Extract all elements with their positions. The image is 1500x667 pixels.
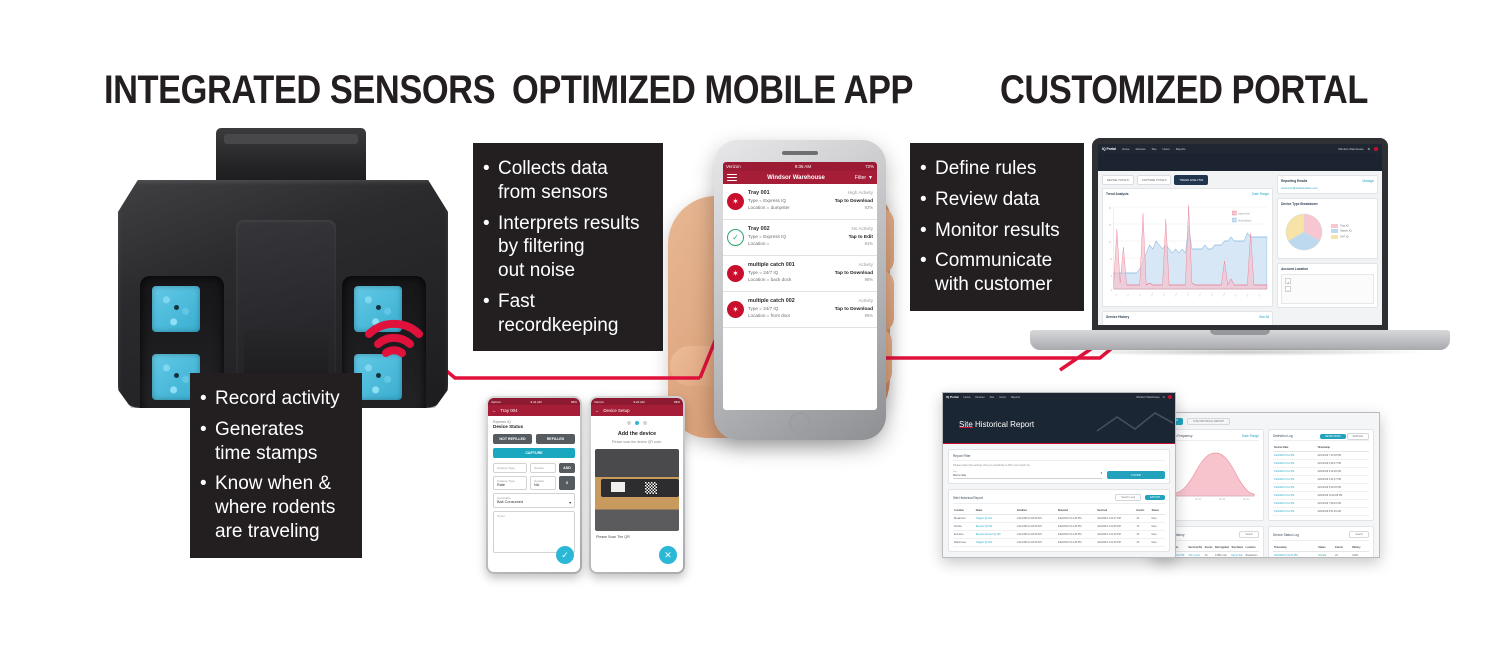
callout-mobile-list: •Collects data from sensors •Interprets … [483, 157, 649, 337]
svg-text:0: 0 [1111, 289, 1112, 293]
svg-text:5: 5 [1111, 275, 1112, 279]
battery-level: 98% [865, 277, 873, 282]
callout-sensors-list: •Record activity •Generates time stamps … [200, 387, 348, 544]
report-window-site-historical: IQ Portal Home Devices Site Users Report… [942, 392, 1176, 558]
filter-button[interactable]: Filter▼ [855, 175, 873, 181]
section-title: Device Status [493, 424, 575, 429]
cell[interactable]: 4/22/2019 3:14 PM [1273, 508, 1316, 516]
service-history-table: Service Date Serviced By Events Bait App… [1163, 544, 1259, 558]
field-value: Bait Consumed [497, 500, 523, 505]
clock-label: 9:22 AM [633, 400, 644, 404]
card-title: Account Location [1281, 267, 1308, 271]
portal-tabs: DEVICE TOTALS CAPTURE TOTALS TREND ANALY… [1102, 175, 1273, 185]
report-hero: Site Historical Report [943, 401, 1175, 443]
table-row: 4/22/2019 3:14 PM4/20/2019 3:41:47 PM [1273, 476, 1369, 484]
panel-title: Report Filter [953, 454, 971, 458]
email-address[interactable]: customer@windsorwhse.com [1281, 186, 1374, 190]
chevron-down-icon: ▾ [1101, 471, 1102, 477]
cell: 1/11/1980 12:00:00 AM [1016, 531, 1057, 539]
column-header: Service Date [1273, 444, 1316, 452]
svg-text:4/13: 4/13 [1163, 293, 1166, 298]
cell[interactable]: Express Sensor IQ 103 [975, 531, 1016, 539]
cell: 4/21/2019 7:10:03 PM [1316, 452, 1369, 460]
not-refilled-button[interactable]: NOT REFILLED [493, 434, 532, 444]
cell[interactable]: Trapper IQ 104 [975, 539, 1016, 547]
heading-optimized-mobile-app: OPTIMIZED MOBILE APP [512, 68, 913, 113]
nav-item-reports[interactable]: Reports [1176, 147, 1186, 151]
legend-label: 24/7 IQ [1340, 235, 1349, 238]
column-header: Status [1151, 507, 1165, 515]
cell: New [1151, 531, 1165, 539]
svg-text:Jan 31: Jan 31 [1243, 499, 1250, 500]
cell: 32 [1135, 531, 1150, 539]
carrier-label: Verizon [594, 400, 604, 404]
row-action[interactable]: Tap to Download [835, 271, 873, 276]
service-history-card: Service HistorySee All [1102, 311, 1273, 325]
hamburger-menu-icon[interactable] [727, 172, 737, 183]
trend-analysis-chart: 252015 1050 4/1 4/4 4/7 4/10 4/13 [1106, 199, 1269, 303]
device-type: Type = 24/7 IQ [748, 306, 778, 311]
cell[interactable]: 4/22/2019 3:14 PM [1273, 492, 1316, 500]
cell: Warehouse [953, 539, 975, 547]
svg-text:15: 15 [1109, 241, 1111, 245]
table-row: 4/22/2019 3:14 PM4/20/2019 8:51:29 AM [1273, 508, 1369, 516]
setup-subheading: Please scan the device QR code. [591, 440, 683, 444]
device-type: Type = Express IQ [748, 198, 786, 203]
bullet-icon: • [483, 212, 498, 283]
search-input[interactable]: Search [1239, 531, 1259, 538]
report-topbar: IQ Portal Home Devices Site Users Report… [943, 393, 1175, 401]
cell: Kitchen [953, 523, 975, 531]
cell: 4/20/2019 3:41:47 PM [1316, 476, 1369, 484]
bullet-icon: • [483, 157, 498, 205]
list-item: •Fast recordkeeping [483, 290, 649, 338]
carrier-label: Verizon [726, 164, 741, 169]
bullet-text: Fast recordkeeping [498, 290, 618, 338]
device-type-breakdown-card: Device Type Breakdown Tray IQ Station IQ [1277, 198, 1378, 259]
field-value: NA [534, 483, 552, 487]
device-location: Location = front door [748, 313, 790, 318]
portal-logo: IQ Portal [1102, 147, 1116, 151]
gear-icon[interactable]: ⚙ [1367, 147, 1370, 151]
cell: 4/20/2019 10:04:08 PM [1316, 492, 1369, 500]
nav-item-site[interactable]: Site [1152, 147, 1157, 151]
search-input[interactable]: Search [1349, 531, 1369, 538]
cell: 4/21/2019 7:08:44 PM [1316, 500, 1369, 508]
home-button[interactable] [789, 412, 811, 434]
tab-capture-totals[interactable]: CAPTURE TOTALS [1137, 175, 1172, 185]
legend-label: Tray IQ [1340, 224, 1349, 227]
decorative-wave-icon [1095, 409, 1175, 437]
table-row: Entrance Express Sensor IQ 103 1/11/1980… [953, 531, 1165, 539]
tab-trend-analysis[interactable]: TREND ANALYSIS [1174, 175, 1208, 185]
status-bar: Verizon 9:41 AM 96% [488, 398, 580, 405]
check-icon[interactable]: ✓ [556, 546, 574, 564]
cell: New [1151, 539, 1165, 547]
cell[interactable]: 4/22/2019 3:14 PM [1273, 484, 1316, 492]
nav-item-users[interactable]: Users [1162, 147, 1169, 151]
list-item: •Interprets results by filtering out noi… [483, 212, 649, 283]
svg-text:4/19: 4/19 [1187, 293, 1190, 298]
cell[interactable]: 4/22/2019 3:14 PM [1273, 476, 1316, 484]
table-row: 4/22/2019 3:14 PM4/20/2019 9:16:29 PM [1273, 468, 1369, 476]
heading-customized-portal: CUSTOMIZED PORTAL [1000, 68, 1368, 113]
tab-device-totals[interactable]: DEVICE TOTALS [1102, 175, 1134, 185]
table-row: Warehouse Trapper IQ 104 1/11/1980 12:00… [953, 539, 1165, 547]
field-label: Notes [497, 514, 505, 518]
table-row[interactable]: ✶ Tray 001 Type = Express IQ Location = … [723, 184, 877, 220]
detection-log-table: Service DateTimestamp 4/22/2019 3:14 PM4… [1273, 444, 1369, 516]
cell: 4/20/2019 8:51:29 AM [1316, 508, 1369, 516]
bluetooth-icon: ✶ [727, 301, 744, 318]
bullet-icon: • [920, 219, 935, 243]
bullet-text: Record activity [215, 387, 340, 411]
bait-station-device [118, 128, 448, 408]
svg-text:25: 25 [1109, 207, 1111, 211]
panel-title: Site Historical Report [953, 496, 983, 500]
bullet-icon: • [483, 290, 498, 338]
avatar[interactable] [1168, 395, 1172, 399]
nav-item-home[interactable]: Home [1122, 147, 1129, 151]
filter-button[interactable]: FILTER [1107, 471, 1165, 479]
tab-detections[interactable]: DETECTIONS [1320, 434, 1345, 439]
svg-text:4/22: 4/22 [1199, 293, 1202, 298]
cell[interactable]: Tom Lyons [1187, 552, 1203, 559]
cell: 24 [1334, 552, 1351, 559]
add-button[interactable]: ADD [559, 463, 575, 473]
portal-topbar: IQ Portal Home Devices Site Users Report… [1098, 144, 1382, 153]
table-row: Kitchen Express IQ 102 1/11/1980 12:00:0… [953, 523, 1165, 531]
card-note-select[interactable]: Card Note Bait Consumed ▾ [493, 493, 575, 508]
phone-body: Verizon 9:36 AM 72% Windsor Warehouse Fi… [714, 140, 886, 440]
table-row[interactable]: ✶ multiple catch 001 Type = 24/7 IQ Loca… [723, 256, 877, 292]
laptop-notch [1210, 330, 1270, 335]
bullet-text: Interprets results by filtering out nois… [498, 212, 640, 283]
zoom-out-button[interactable]: − [1285, 286, 1291, 292]
battery-level: 95% [865, 313, 873, 318]
table-row[interactable]: ✓ Tray 002 Type = Express IQ Location = … [723, 220, 877, 256]
bullet-text: Define rules [935, 157, 1036, 181]
cell: Entrance [953, 531, 975, 539]
cell[interactable]: 4/22/2019 3:41:33 PM [1273, 552, 1317, 559]
gear-icon[interactable]: ⚙ [1163, 396, 1165, 399]
device-location: Location = [748, 241, 769, 246]
nav-item-devices[interactable]: Devices [975, 396, 984, 399]
battery-label: 99% [674, 400, 680, 404]
portal-logo: IQ Portal [946, 395, 959, 399]
gender-field[interactable]: Gender NA [530, 476, 556, 490]
field-label: Gender [534, 466, 544, 470]
report-window-dashboard: DASHBOARD SITE HISTORICAL REPORT Detecti… [1152, 412, 1380, 558]
device-location: Location = dumpster [748, 205, 790, 210]
avatar[interactable] [1374, 147, 1378, 151]
bullet-icon: • [200, 387, 215, 411]
cell: 4/22/2019 3:14:39 PM [1057, 523, 1096, 531]
device-name: Tray 002 [748, 226, 770, 232]
column-header: Installed [1016, 507, 1057, 515]
cell: 4/22/2019 3:14:39 PM [1057, 531, 1096, 539]
see-all-link[interactable]: See All [1259, 315, 1269, 319]
page-title: Windsor Warehouse [767, 175, 825, 181]
date-range-link[interactable]: Date Range [1242, 434, 1259, 438]
nav-item-site[interactable]: Site [990, 396, 994, 399]
wifi-signal-icon [361, 306, 427, 376]
location-map[interactable]: + − [1281, 274, 1374, 304]
svg-text:Incidents Found: Incidents Found [1238, 212, 1250, 216]
close-icon[interactable]: ✕ [659, 546, 677, 564]
mobile-phone: Verizon 9:36 AM 72% Windsor Warehouse Fi… [700, 140, 910, 470]
capture-type-field[interactable]: Capture Type [493, 463, 527, 473]
phone-status-bar: Verizon 9:36 AM 72% [723, 162, 877, 171]
battery-label: 72% [865, 164, 874, 169]
device-type-pie-chart [1281, 209, 1327, 255]
bullet-icon: • [200, 472, 215, 543]
title-underline [959, 427, 973, 428]
legend-label: Station IQ [1340, 230, 1352, 233]
cell: 20 [1135, 539, 1150, 547]
callout-mobile: •Collects data from sensors •Interprets … [473, 143, 663, 351]
cell[interactable]: 4/22/2019 3:14 PM [1273, 460, 1316, 468]
bullet-text: Collects data from sensors [498, 157, 608, 205]
table-row[interactable]: ✶ multiple catch 002 Type = 24/7 IQ Loca… [723, 292, 877, 328]
back-arrow-icon[interactable]: ← [595, 408, 599, 413]
svg-text:4/7: 4/7 [1139, 294, 1141, 298]
cell: 4/22/2019 4:41:05 PM [1096, 523, 1135, 531]
cell: 1/11/1980 12:00:00 AM [1016, 523, 1057, 531]
step-dot [643, 421, 647, 425]
infographic-stage: INTEGRATED SENSORS OPTIMIZED MOBILE APP … [0, 0, 1500, 667]
table-row: 4/22/2019 3:14 PM Tom Lyons 24 0.380 uni… [1163, 552, 1259, 559]
list-item: •Know when & where rodents are traveling [200, 472, 348, 543]
card-title: Trend Analysis [1106, 192, 1129, 196]
export-button[interactable]: EXPORT [1145, 495, 1165, 500]
scan-prompt: Please Scan The QR [596, 535, 630, 539]
cell: 4/22/2019 3:14:39 PM [1057, 539, 1096, 547]
cell: 4/22/2019 4:41:36 PM [1096, 539, 1135, 547]
cell[interactable]: 4/22/2019 3:14 PM [1273, 468, 1316, 476]
cell[interactable]: 4/22/2019 3:14 PM [1273, 500, 1316, 508]
cell[interactable]: Trapper IQ 101 [975, 515, 1016, 523]
mini-screen: Verizon 9:41 AM 96% ← Tray 004 Express I… [488, 398, 580, 572]
setup-heading: Add the device [591, 431, 683, 437]
page-title: Tray 004 [500, 408, 517, 413]
column-header: Serviced [1096, 507, 1135, 515]
activity-status: Activity [858, 298, 873, 303]
column-header: Detected [1057, 507, 1096, 515]
phone-speaker [782, 151, 818, 155]
card-title: Service History [1106, 315, 1129, 319]
laptop-device: IQ Portal Home Devices Site Users Report… [1030, 138, 1450, 378]
list-item: •Record activity [200, 387, 348, 411]
svg-text:10: 10 [1110, 258, 1112, 262]
trend-analysis-card: Trend AnalysisDate Range [1102, 188, 1273, 307]
portal-screen: IQ Portal Home Devices Site Users Report… [1098, 144, 1382, 325]
panel-title: Detection Log [1273, 434, 1293, 438]
device-label [611, 482, 625, 492]
bullet-icon: • [200, 418, 215, 466]
mini-phone-device-setup: Verizon 9:22 AM 99% ← Device Setup Add t… [589, 396, 685, 574]
column-header: Location [1245, 544, 1259, 552]
svg-text:5/4: 5/4 [1247, 293, 1250, 298]
manage-link[interactable]: Manage [1362, 179, 1374, 183]
step-dot [627, 421, 631, 425]
account-label: Windsor Warehouse [1136, 396, 1159, 399]
svg-text:4/16: 4/16 [1175, 293, 1178, 298]
gender-field[interactable]: Gender [530, 463, 556, 473]
status-bar: Verizon 9:22 AM 99% [591, 398, 683, 405]
column-header: Events [1135, 507, 1150, 515]
cell: 4/21/2019 5:29:03 PM [1316, 484, 1369, 492]
pie-legend: Tray IQ Station IQ 24/7 IQ [1331, 224, 1352, 241]
bluetooth-icon: ✶ [727, 193, 744, 210]
callout-sensors: •Record activity •Generates time stamps … [190, 373, 362, 558]
cell[interactable]: Demo Site [1231, 552, 1245, 559]
zoom-in-button[interactable]: + [1285, 278, 1291, 284]
column-header: Site Name [1231, 544, 1245, 552]
clock-label: 9:36 AM [795, 164, 811, 169]
svg-text:4/28: 4/28 [1223, 293, 1226, 298]
cell[interactable]: 4/22/2019 3:14 PM [1273, 452, 1316, 460]
heading-integrated-sensors: INTEGRATED SENSORS [104, 68, 495, 113]
capture-button[interactable]: CAPTURE [493, 448, 575, 458]
column-header: Bait Applied [1214, 544, 1231, 552]
svg-text:4/1: 4/1 [1115, 294, 1117, 298]
svg-text:5/1: 5/1 [1235, 294, 1237, 298]
step-dot-active [635, 421, 639, 425]
svg-text:Jan 20: Jan 20 [1219, 499, 1226, 500]
report-filter-panel: Report Filter Please select the settings… [948, 449, 1170, 484]
nav-item-reports[interactable]: Reports [1011, 396, 1020, 399]
column-header: Timestamp [1316, 444, 1369, 452]
nav-item-users[interactable]: Users [999, 396, 1006, 399]
device-type: Type = 24/7 IQ [748, 270, 778, 275]
carrier-label: Verizon [491, 400, 501, 404]
card-title: Device Type Breakdown [1281, 202, 1317, 206]
svg-text:Jan 10: Jan 10 [1195, 499, 1202, 500]
bullet-icon: • [920, 157, 935, 181]
site-historical-table: Location Name Installed Detected Service… [953, 507, 1165, 547]
detection-frequency-chart: Jan 01Jan 10 Jan 20Jan 31 [1163, 444, 1259, 500]
remove-button[interactable]: X [559, 476, 575, 490]
table-row: 4/22/2019 3:14 PM4/21/2019 5:29:03 PM [1273, 484, 1369, 492]
chevron-down-icon: ▾ [569, 500, 571, 505]
detection-log-panel: Detection Log DETECTIONS SERVICE Service… [1268, 429, 1374, 521]
page-title: Device Setup [603, 408, 629, 413]
qr-code-icon [645, 482, 657, 494]
field-label: Capture Type [497, 466, 515, 470]
row-action[interactable]: Tap to Download [835, 199, 873, 204]
phone-nav-bar: Windsor Warehouse Filter▼ [723, 171, 877, 184]
table-row: 4/22/2019 3:14 PM4/20/2019 10:04:08 PM [1273, 492, 1369, 500]
cell: 4/20/2019 9:16:29 PM [1316, 468, 1369, 476]
device-name: multiple catch 002 [748, 298, 795, 304]
nav-bar: ← Tray 004 [488, 405, 580, 416]
activity-status: Activity [858, 262, 873, 267]
bait-block [152, 286, 200, 332]
panel-title: Device Status Log [1273, 533, 1299, 537]
device-location: Location = back dock [748, 277, 791, 282]
bullet-text: Know when & where rodents are traveling [215, 472, 335, 543]
table-row: Breakroom Trapper IQ 101 1/11/1980 12:00… [953, 515, 1165, 523]
tab-site-historical-report[interactable]: SITE HISTORICAL REPORT [1187, 418, 1230, 425]
battery-label: 96% [571, 400, 577, 404]
bluetooth-icon: ✶ [727, 265, 744, 282]
nav-item-devices[interactable]: Devices [1136, 147, 1146, 151]
phone-screen: Verizon 9:36 AM 72% Windsor Warehouse Fi… [723, 162, 877, 410]
search-input[interactable]: Search Level [1115, 494, 1141, 501]
device-status-log-panel: Device Status LogSearch Timestamp Status… [1268, 526, 1374, 558]
table-row: 4/22/2019 3:14 PM4/21/2019 7:08:44 PM [1273, 500, 1369, 508]
bullet-icon: • [920, 249, 935, 297]
table-row: 4/22/2019 3:41:33 PM Normal 24 100% [1273, 552, 1369, 559]
device-name: Tray 001 [748, 190, 770, 196]
cell: Breakroom [1245, 552, 1259, 559]
svg-text:Devices Deployed: Devices Deployed [1238, 219, 1252, 223]
table-row: 4/22/2019 3:14 PM4/21/2019 7:10:03 PM [1273, 452, 1369, 460]
account-label: Windsor Warehouse [1338, 147, 1363, 151]
bullet-text: Generates time stamps [215, 418, 317, 466]
nav-item-home[interactable]: Home [964, 396, 971, 399]
mini-screen: Verizon 9:22 AM 99% ← Device Setup Add t… [591, 398, 683, 572]
reporting-emails-card: Reporting EmailsManage customer@windsorw… [1277, 175, 1378, 194]
refilled-button[interactable]: REFILLED [536, 434, 575, 444]
cell: 100% [1351, 552, 1369, 559]
device-type: Type = Express IQ [748, 234, 786, 239]
activity-status: High Activity [848, 190, 873, 195]
column-header: Events [1334, 544, 1351, 552]
card-title: Reporting Emails [1281, 179, 1307, 183]
cell: 1/11/1980 12:00:00 AM [1016, 539, 1057, 547]
back-arrow-icon[interactable]: ← [492, 408, 496, 413]
table-row: 4/22/2019 3:14 PM4/21/2019 6:28:17 PM [1273, 460, 1369, 468]
column-header: Location [953, 507, 975, 515]
filter-label: Filter [855, 175, 866, 181]
battery-level: 92% [865, 205, 873, 210]
device-name: multiple catch 001 [748, 262, 795, 268]
cell: 1/11/1980 12:00:00 AM [1016, 515, 1057, 523]
column-header: Status [1317, 544, 1334, 552]
account-location-card: Account Location + − [1277, 263, 1378, 308]
cell: 24 [1204, 552, 1214, 559]
cell[interactable]: Express IQ 102 [975, 523, 1016, 531]
column-header: Battery [1351, 544, 1369, 552]
bullet-text: Review data [935, 188, 1040, 212]
device-status-log-table: Timestamp Status Events Battery 4/22/201… [1273, 544, 1369, 558]
step-indicator [591, 416, 683, 428]
laptop-lid: IQ Portal Home Devices Site Users Report… [1092, 138, 1388, 334]
column-header: Events [1204, 544, 1214, 552]
site-select[interactable]: Site Demo Site ▾ [953, 471, 1102, 479]
mini-phone-device-status: Verizon 9:41 AM 96% ← Tray 004 Express I… [486, 396, 582, 574]
capture-type-field[interactable]: Capture Type Rate [493, 476, 527, 490]
svg-text:20: 20 [1109, 224, 1111, 228]
bullet-icon: • [920, 188, 935, 212]
field-value: Demo Site [953, 473, 966, 477]
check-icon: ✓ [727, 229, 744, 246]
date-range-link[interactable]: Date Range [1252, 192, 1269, 196]
cell: New [1151, 515, 1165, 523]
row-action[interactable]: Tap to Download [835, 307, 873, 312]
cell: New [1151, 523, 1165, 531]
svg-text:4/10: 4/10 [1151, 293, 1154, 298]
svg-text:5/7: 5/7 [1259, 294, 1261, 298]
tab-service[interactable]: SERVICE [1347, 433, 1369, 440]
cell: 12 [1135, 523, 1150, 531]
cell: 24 [1135, 515, 1150, 523]
cell: Breakroom [953, 515, 975, 523]
nav-bar: ← Device Setup [591, 405, 683, 416]
row-action[interactable]: Tap to Edit [849, 235, 873, 240]
